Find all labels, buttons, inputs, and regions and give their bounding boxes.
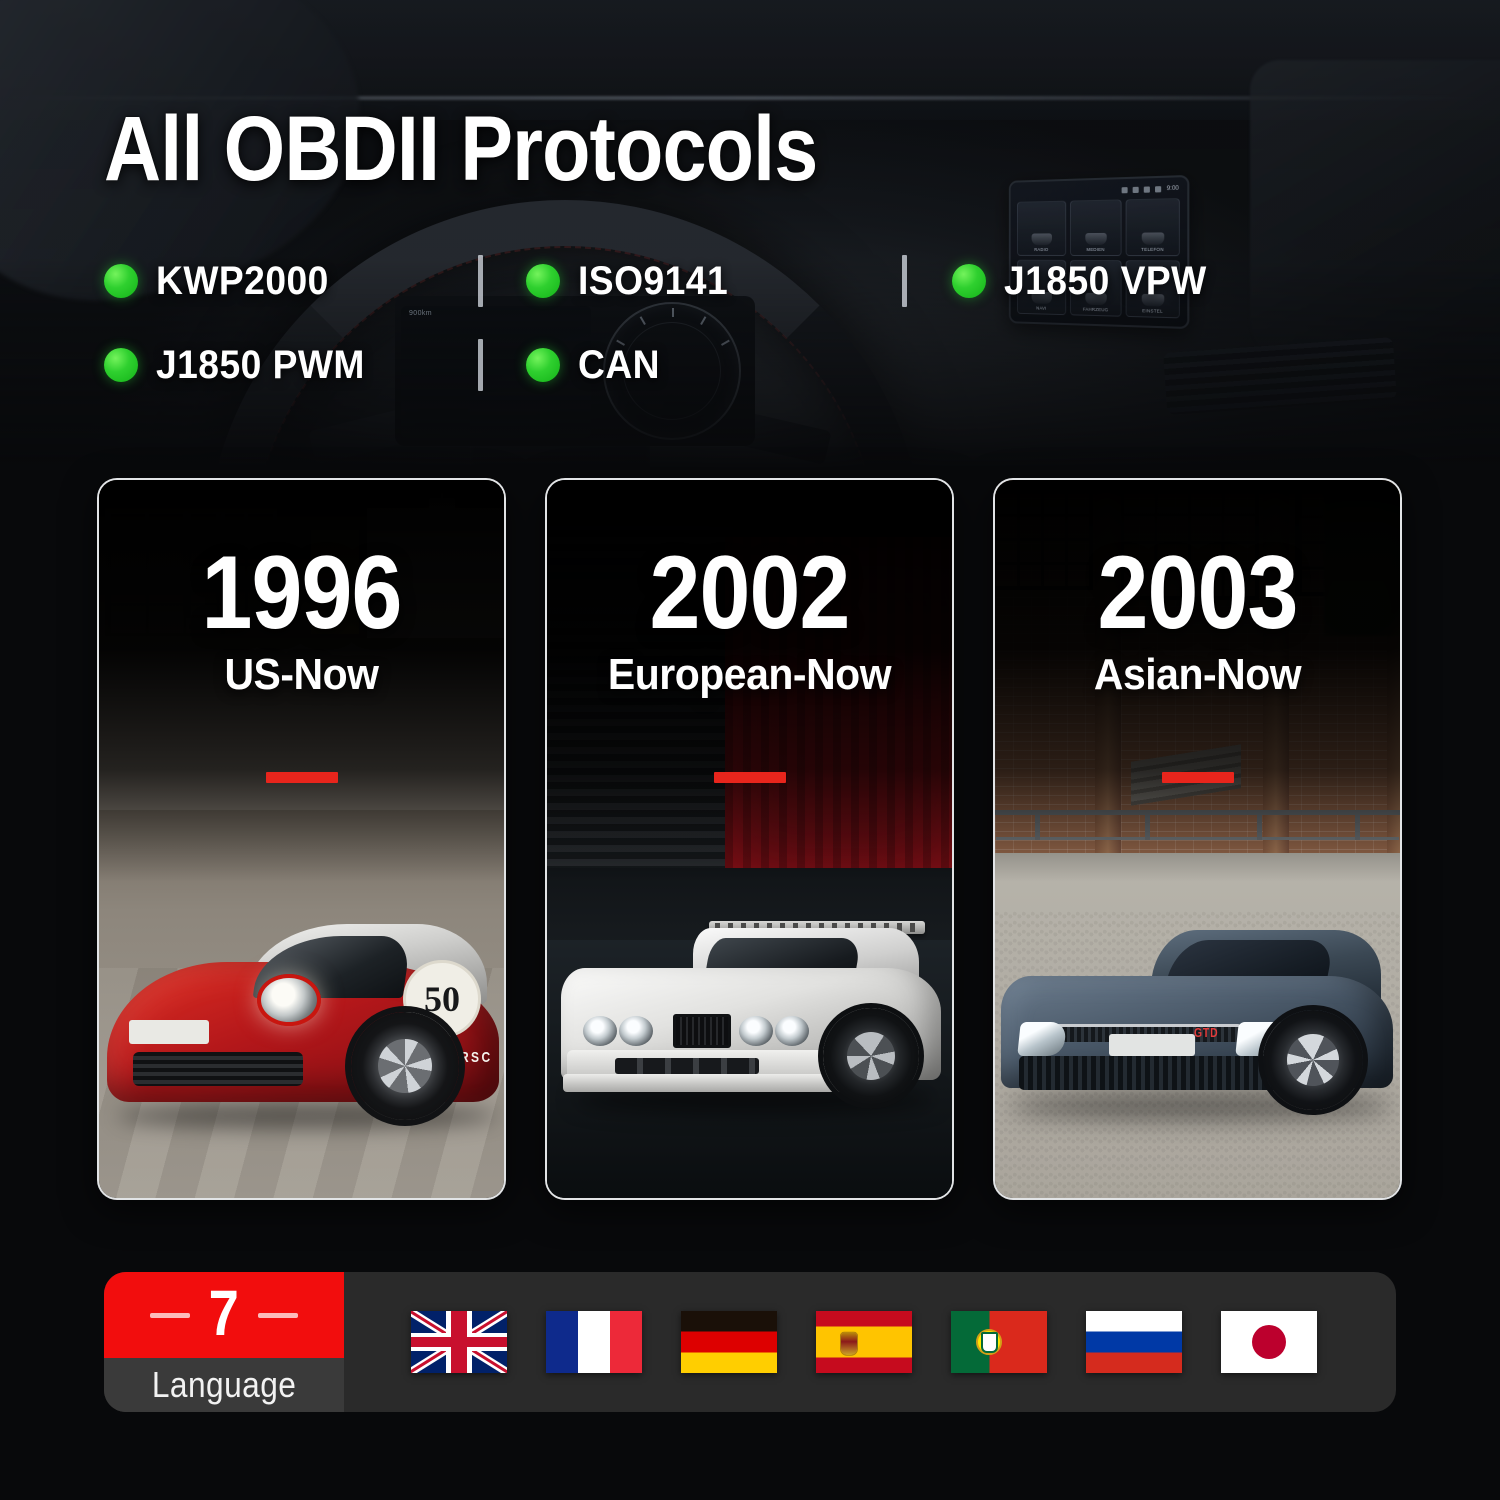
language-count-badge: 7 Language bbox=[104, 1272, 344, 1412]
flag-list bbox=[344, 1311, 1396, 1373]
vertical-divider bbox=[478, 339, 483, 391]
car-interior-background-photo: 900km 9:00 RADIO MEDIEN TELEFON NAVI FAH… bbox=[0, 0, 1500, 470]
flag-russia-icon bbox=[1086, 1311, 1182, 1373]
card-accent-rule bbox=[1162, 772, 1234, 783]
infotainment-status-bar: 9:00 bbox=[1018, 183, 1179, 198]
door-panel bbox=[1250, 60, 1500, 360]
japan-sun-disc bbox=[1252, 1325, 1286, 1359]
card-accent-rule bbox=[714, 772, 786, 783]
protocol-item-kwp2000: KWP2000 bbox=[104, 259, 434, 304]
gtd-badge: GTD bbox=[1194, 1025, 1218, 1040]
flag-spain-icon bbox=[816, 1311, 912, 1373]
protocol-label: J1850 VPW bbox=[1004, 259, 1207, 304]
infotainment-tile-radio: RADIO bbox=[1017, 201, 1066, 256]
flag-france-icon bbox=[546, 1311, 642, 1373]
grey-vw-golf-gtd: GTD bbox=[1001, 898, 1397, 1112]
coverage-card-european[interactable]: 2002 European-Now bbox=[545, 478, 954, 1200]
product-feature-graphic: 900km 9:00 RADIO MEDIEN TELEFON NAVI FAH… bbox=[0, 0, 1500, 1500]
protocol-list: KWP2000 ISO9141 J1850 VPW J1850 PWM bbox=[104, 252, 1224, 394]
flag-portugal-icon bbox=[951, 1311, 1047, 1373]
infotainment-tile-media: MEDIEN bbox=[1070, 199, 1122, 256]
card-heading: 2003 Asian-Now bbox=[995, 544, 1400, 700]
flag-japan-icon bbox=[1221, 1311, 1317, 1373]
language-count-top: 7 bbox=[104, 1272, 344, 1358]
protocol-item-j1850-pwm: J1850 PWM bbox=[104, 343, 434, 388]
vertical-divider bbox=[478, 255, 483, 307]
dash-right-icon bbox=[258, 1313, 298, 1318]
language-count: 7 bbox=[209, 1281, 239, 1345]
protocol-label: J1850 PWM bbox=[156, 343, 365, 388]
card-region: Asian-Now bbox=[1009, 650, 1386, 700]
green-dot-icon bbox=[104, 264, 138, 298]
card-heading: 2002 European-Now bbox=[547, 544, 952, 700]
protocol-divider-slot bbox=[856, 255, 952, 307]
card-heading: 1996 US-Now bbox=[99, 544, 504, 700]
card-year: 2003 bbox=[1019, 544, 1375, 644]
protocol-item-j1850-vpw: J1850 VPW bbox=[952, 259, 1222, 304]
protocol-row-2: J1850 PWM CAN bbox=[104, 336, 1224, 394]
language-label: Language bbox=[152, 1364, 296, 1406]
protocol-row-1: KWP2000 ISO9141 J1850 VPW bbox=[104, 252, 1224, 310]
steering-wheel-hub bbox=[470, 392, 650, 470]
card-year: 1996 bbox=[123, 544, 479, 644]
vertical-divider bbox=[902, 255, 907, 307]
protocol-label: CAN bbox=[578, 343, 660, 388]
card-accent-rule bbox=[266, 772, 338, 783]
page-title: All OBDII Protocols bbox=[104, 103, 817, 195]
coverage-card-us[interactable]: 50 PORSC 1996 US-Now bbox=[97, 478, 506, 1200]
flag-germany-icon bbox=[681, 1311, 777, 1373]
coverage-card-list: 50 PORSC 1996 US-Now bbox=[97, 478, 1402, 1200]
red-porsche-911: 50 PORSC bbox=[107, 894, 503, 1124]
green-dot-icon bbox=[952, 264, 986, 298]
card-region: US-Now bbox=[113, 650, 490, 700]
protocol-divider-slot bbox=[434, 339, 526, 391]
card-year: 2002 bbox=[571, 544, 927, 644]
white-bmw-e30-m3 bbox=[561, 886, 945, 1106]
protocol-label: KWP2000 bbox=[156, 259, 329, 304]
language-bar: 7 Language bbox=[104, 1272, 1396, 1412]
green-dot-icon bbox=[104, 348, 138, 382]
portugal-coat-of-arms bbox=[976, 1329, 1002, 1355]
dash-left-icon bbox=[150, 1313, 190, 1318]
card-region: European-Now bbox=[561, 650, 938, 700]
protocol-label: ISO9141 bbox=[578, 259, 728, 304]
green-dot-icon bbox=[526, 264, 560, 298]
protocol-item-iso9141: ISO9141 bbox=[526, 259, 856, 304]
protocol-divider-slot bbox=[434, 255, 526, 307]
language-label-wrap: Language bbox=[104, 1358, 344, 1412]
protocol-item-can: CAN bbox=[526, 343, 856, 388]
coverage-card-asian[interactable]: GTD 2003 Asian-Now bbox=[993, 478, 1402, 1200]
infotainment-tile-phone: TELEFON bbox=[1126, 198, 1180, 256]
steering-wheel-spoke-right bbox=[658, 393, 831, 464]
green-dot-icon bbox=[526, 348, 560, 382]
spain-coat-of-arms bbox=[841, 1332, 857, 1354]
steering-wheel-spoke-left bbox=[308, 393, 471, 465]
flag-united-kingdom-icon bbox=[411, 1311, 507, 1373]
